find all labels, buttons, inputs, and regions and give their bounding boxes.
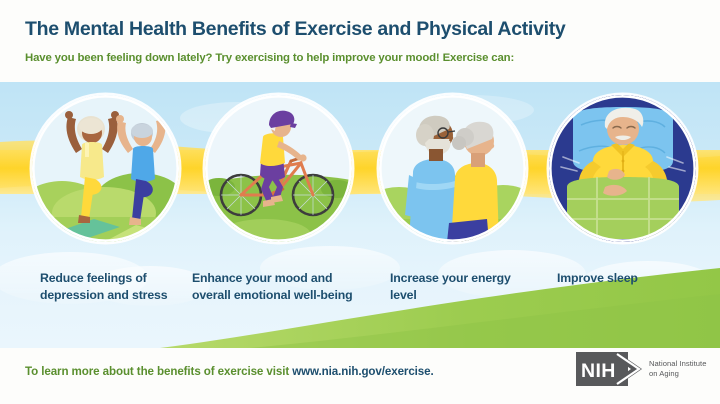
nih-logo-wordmark: National Institute on Aging [649, 359, 706, 379]
benefit-caption-3: Increase your energy level [390, 270, 540, 303]
footer-lead-text: To learn more about the benefits of exer… [25, 365, 292, 378]
nih-logo-line2: on Aging [649, 369, 706, 379]
nih-logo-line1: National Institute [649, 359, 706, 369]
page-subtitle: Have you been feeling down lately? Try e… [25, 52, 514, 64]
header: The Mental Health Benefits of Exercise a… [0, 0, 720, 82]
nih-mark-icon: NIH [576, 352, 642, 386]
illustration-circle-yoga [32, 95, 179, 242]
illustration-circle-cycling [205, 95, 352, 242]
benefit-caption-1: Reduce feelings of depression and stress [40, 270, 190, 303]
footer-text: To learn more about the benefits of exer… [25, 365, 434, 378]
infographic-root: Reduce feelings of depression and stress… [0, 0, 720, 404]
illustration-panel: Reduce feelings of depression and stress… [0, 82, 720, 348]
page-title: The Mental Health Benefits of Exercise a… [25, 18, 565, 41]
illustration-circle-walking [379, 95, 526, 242]
benefit-caption-4: Improve sleep [557, 270, 717, 287]
footer-url-link[interactable]: www.nia.nih.gov/exercise. [292, 365, 433, 378]
nih-logo: NIH National Institute on Aging [576, 349, 706, 389]
svg-text:NIH: NIH [581, 360, 616, 382]
benefit-caption-2: Enhance your mood and overall emotional … [192, 270, 372, 303]
illustration-circle-sleeping [549, 95, 696, 242]
